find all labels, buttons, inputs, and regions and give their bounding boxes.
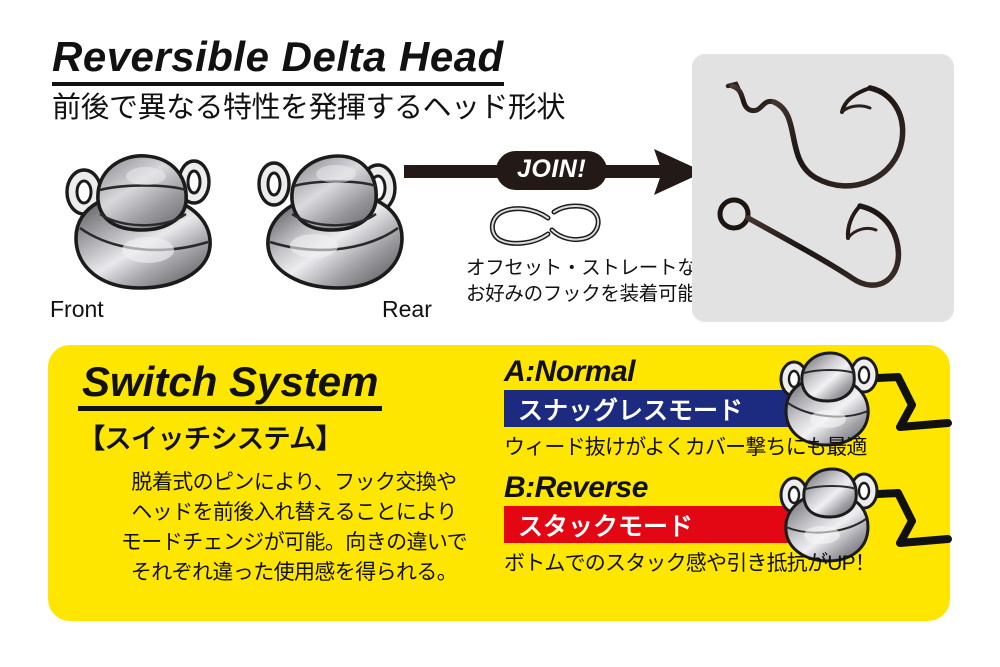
page-title: Reversible Delta Head: [52, 36, 504, 86]
split-ring-illustration: [486, 198, 602, 255]
description-line-3: モードチェンジが可能。向きの違いで: [78, 528, 510, 558]
join-arrow: JOIN!: [404, 147, 704, 199]
jig-front-label: Front: [50, 296, 104, 323]
mode-a-banner: スナッグレスモード: [504, 390, 828, 427]
mode-b-heading: B:Reverse: [504, 471, 950, 504]
hook-caption: オフセット・ストレートなど お好みのフックを装着可能！: [466, 256, 716, 307]
switch-system-modes: A:Normal スナッグレスモード ウィード抜けがよくカバー撃ちにも最適: [504, 355, 950, 577]
mode-a-caption: ウィード抜けがよくカバー撃ちにも最適: [504, 431, 950, 461]
straight-hook-shape: [720, 200, 898, 285]
switch-system-title: Switch System: [78, 359, 382, 411]
mode-b-banner: スタックモード: [504, 506, 828, 543]
switch-system-title-jp: 【スイッチシステム】: [78, 417, 518, 456]
description-line-4: それぞれ違った使用感を得られる。: [78, 558, 510, 588]
hook-caption-line-1: オフセット・ストレートなど: [466, 256, 716, 282]
hook-caption-line-2: お好みのフックを装着可能！: [466, 282, 716, 308]
mode-b-banner-label: スタックモード: [518, 507, 693, 543]
jig-head-rear-illustration: [248, 142, 418, 299]
description-line-1: 脱着式のピンにより、フック交換や: [78, 468, 510, 498]
jig-rear-label: Rear: [382, 296, 432, 323]
mode-b-caption: ボトムでのスタック感や引き抵抗がUP！: [504, 547, 950, 577]
title-block: Reversible Delta Head 前後で異なる特性を発揮するヘッド形状: [52, 36, 652, 125]
switch-system-left-column: Switch System 【スイッチシステム】 脱着式のピンにより、フック交換…: [78, 359, 518, 588]
mode-block-reverse: B:Reverse スタックモード ボトムでのスタック感や引き抵抗がUP！: [504, 471, 950, 577]
switch-system-panel: Switch System 【スイッチシステム】 脱着式のピンにより、フック交換…: [48, 345, 950, 621]
mode-a-banner-label: スナッグレスモード: [518, 391, 743, 427]
jig-head-front-illustration: [60, 142, 230, 299]
join-badge: JOIN!: [496, 151, 607, 190]
offset-hook-shape: [728, 84, 903, 186]
mode-block-normal: A:Normal スナッグレスモード ウィード抜けがよくカバー撃ちにも最適: [504, 355, 950, 461]
mode-a-heading: A:Normal: [504, 355, 950, 388]
page-subtitle: 前後で異なる特性を発揮するヘッド形状: [52, 93, 652, 125]
switch-system-description: 脱着式のピンにより、フック交換や ヘッドを前後入れ替えることにより モードチェン…: [78, 468, 518, 587]
hooks-photo-box: [692, 54, 954, 322]
top-section: Reversible Delta Head 前後で異なる特性を発揮するヘッド形状: [0, 0, 1000, 340]
description-line-2: ヘッドを前後入れ替えることにより: [78, 498, 510, 528]
